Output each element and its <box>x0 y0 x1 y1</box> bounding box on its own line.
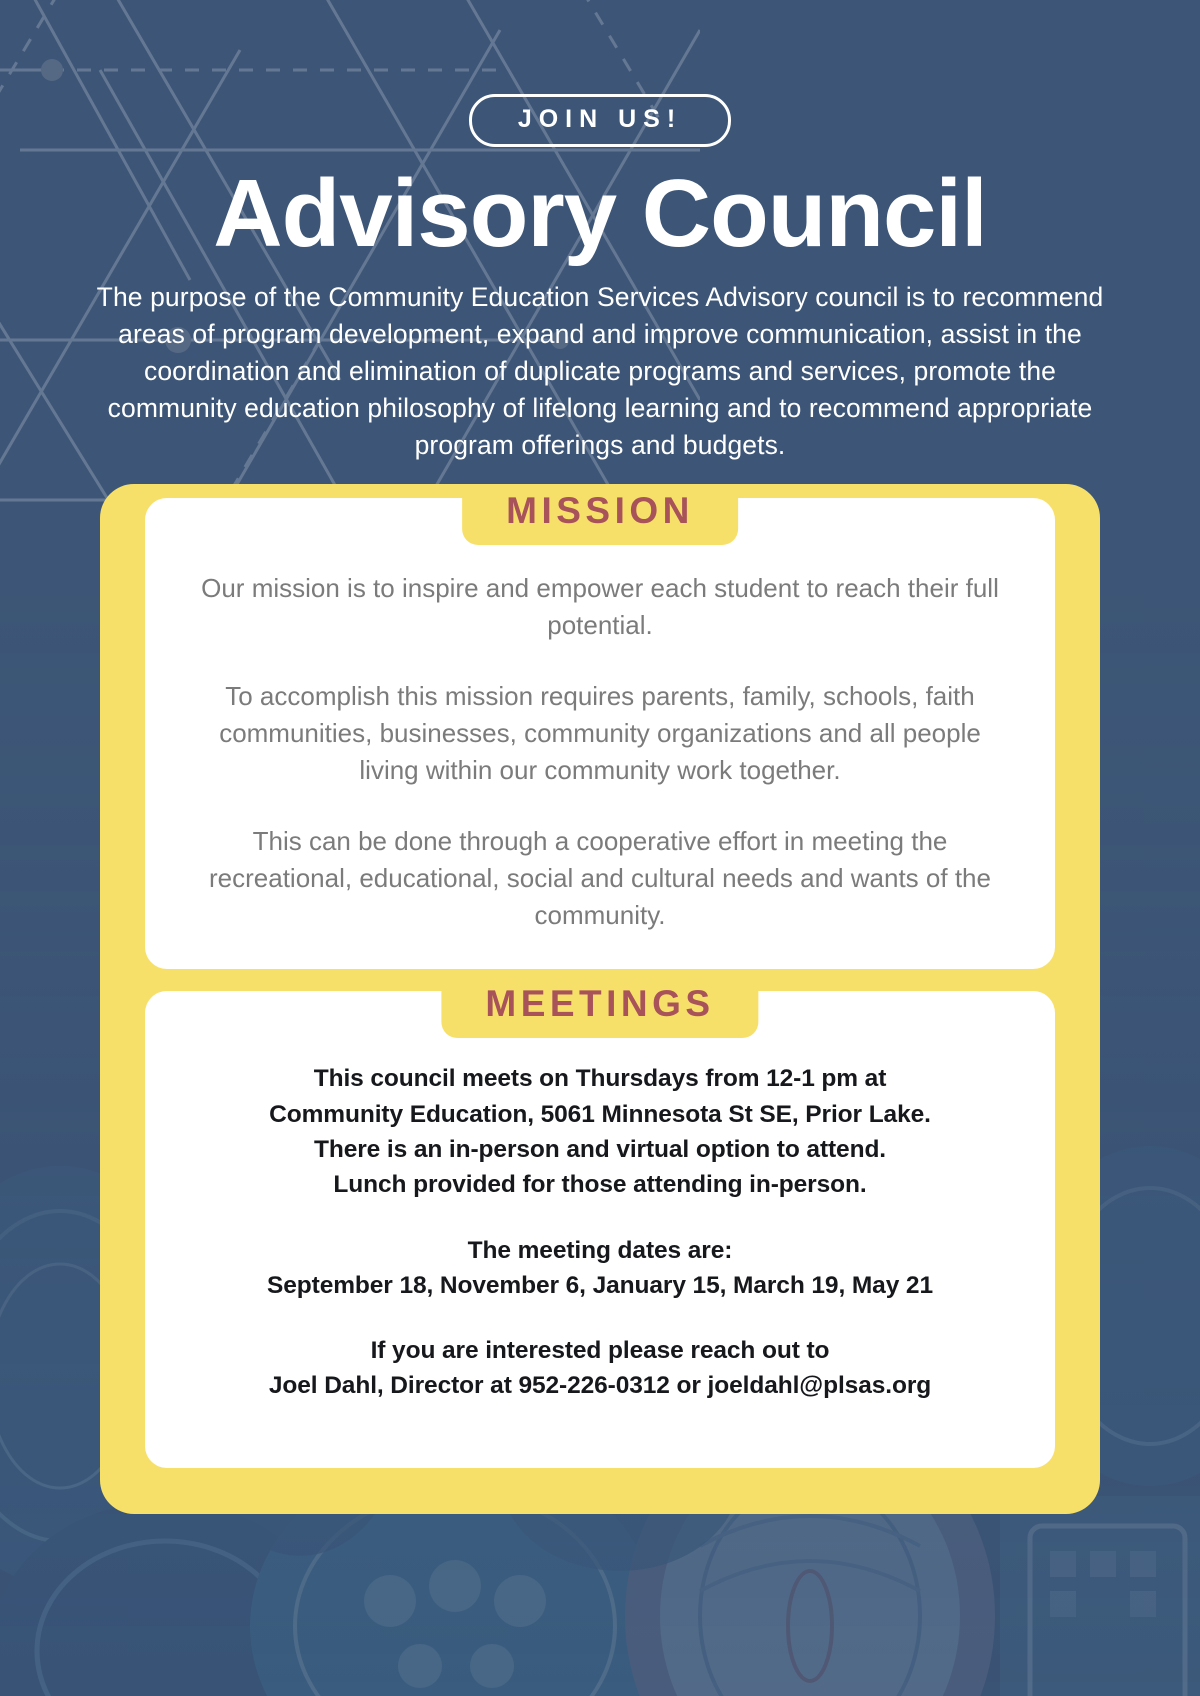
meetings-dates-block: The meeting dates are: September 18, Nov… <box>185 1233 1015 1304</box>
meetings-schedule-line-3: There is an in-person and virtual option… <box>185 1132 1015 1167</box>
meetings-dates-list: September 18, November 6, January 15, Ma… <box>185 1268 1015 1303</box>
meetings-body: This council meets on Thursdays from 12-… <box>175 1055 1025 1437</box>
mission-paragraph-2: To accomplish this mission requires pare… <box>193 678 1007 789</box>
meetings-schedule-line-4: Lunch provided for those attending in-pe… <box>185 1167 1015 1202</box>
meetings-schedule-line-2: Community Education, 5061 Minnesota St S… <box>185 1097 1015 1132</box>
page-title: Advisory Council <box>0 163 1200 265</box>
purpose-paragraph: The purpose of the Community Education S… <box>95 279 1105 464</box>
mission-panel: MISSION Our mission is to inspire and em… <box>145 498 1055 969</box>
contact-prompt: If you are interested please reach out t… <box>185 1333 1015 1368</box>
mission-paragraph-1: Our mission is to inspire and empower ea… <box>193 570 1007 644</box>
poster-flyer: JOIN US! Advisory Council The purpose of… <box>0 0 1200 1696</box>
mission-heading: MISSION <box>462 484 738 545</box>
meetings-panel: MEETINGS This council meets on Thursdays… <box>145 991 1055 1467</box>
meetings-schedule-line-1: This council meets on Thursdays from 12-… <box>185 1061 1015 1096</box>
meetings-schedule-block: This council meets on Thursdays from 12-… <box>185 1061 1015 1202</box>
meetings-dates-label: The meeting dates are: <box>185 1233 1015 1268</box>
yellow-card: MISSION Our mission is to inspire and em… <box>100 484 1100 1513</box>
meetings-heading: MEETINGS <box>441 977 758 1038</box>
poster-content: JOIN US! Advisory Council The purpose of… <box>0 0 1200 1514</box>
contact-details: Joel Dahl, Director at 952-226-0312 or j… <box>185 1368 1015 1403</box>
mission-paragraph-3: This can be done through a cooperative e… <box>193 823 1007 934</box>
join-us-badge: JOIN US! <box>469 94 731 147</box>
join-us-badge-wrap: JOIN US! <box>0 0 1200 147</box>
meetings-contact-block: If you are interested please reach out t… <box>185 1333 1015 1404</box>
mission-body: Our mission is to inspire and empower ea… <box>175 562 1025 939</box>
